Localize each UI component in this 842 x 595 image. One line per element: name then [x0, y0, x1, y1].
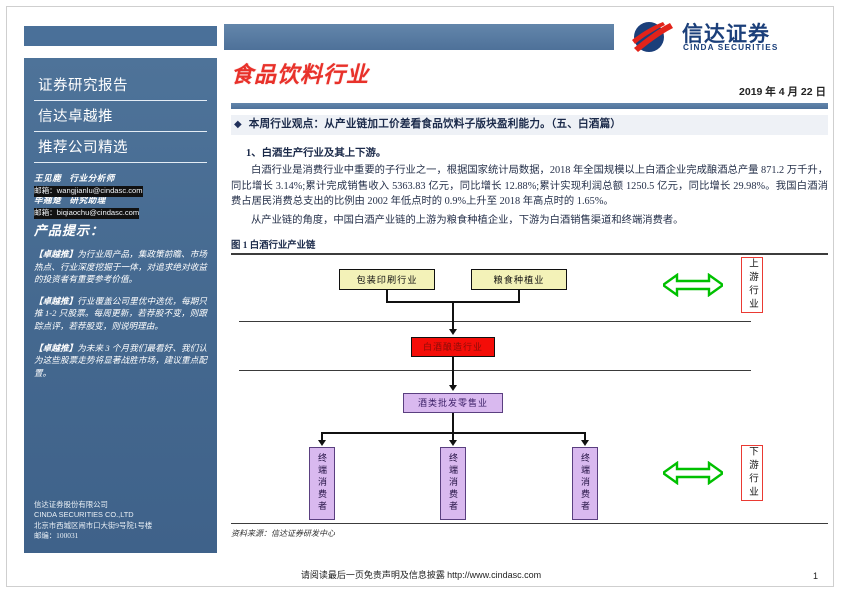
- analyst-card-primary: 王见鹿 行业分析师 执业编号：S1500517100001 联系电话：+86 2…: [34, 172, 207, 184]
- analyst-email[interactable]: 邮箱：biqiaochu@cindasc.com: [34, 208, 139, 219]
- section-heading-text: 本周行业观点：从产业链加工价差看食品饮料子版块盈利能力。（五、白酒篇）: [249, 118, 621, 132]
- sidebar-top-bar: [24, 26, 217, 46]
- report-page: 证券研究报告 信达卓越推 推荐公司精选 王见鹿 行业分析师 执业编号：S1500…: [0, 0, 842, 595]
- arrow-down-icon: [449, 385, 457, 391]
- product-tip-tag: 【卓越推】: [34, 249, 77, 259]
- analyst-email-label: 邮箱：: [34, 186, 57, 195]
- arrow-down-icon: [449, 440, 457, 446]
- sub-heading: 1、白酒生产行业及其上下游。: [246, 144, 828, 159]
- figure-caption: 图 1 白酒行业产业链: [231, 237, 828, 251]
- node-end-consumer: 终端消费者: [572, 447, 598, 520]
- company-name-cn: 信达证券股份有限公司: [34, 500, 212, 510]
- node-liquor-wholesale-retail: 酒类批发零售业: [403, 393, 503, 413]
- node-label: 终端消费者: [315, 453, 329, 513]
- product-tips-title: 产品提示：: [34, 220, 207, 239]
- node-label: 粮食种植业: [494, 272, 545, 286]
- brand-logo: 信达证券 CINDA SECURITIES: [630, 18, 830, 56]
- header-bar: [224, 24, 614, 50]
- company-name-en: CINDA SECURITIES CO.,LTD: [34, 510, 212, 520]
- sidebar-item-research-report[interactable]: 证券研究报告: [34, 68, 207, 101]
- analyst-role: 行业分析师: [70, 173, 116, 183]
- analyst-name-role: 王见鹿 行业分析师: [34, 172, 207, 184]
- company-address: 北京市西城区闹市口大街9号院1号楼: [34, 521, 212, 531]
- arrow-down-icon: [318, 440, 326, 446]
- diagram-separator-upper: [239, 321, 751, 322]
- analyst-email-value: biqiaochu@cindasc.com: [57, 208, 139, 217]
- node-end-consumer: 终端消费者: [309, 447, 335, 520]
- diamond-icon: ◆: [234, 118, 242, 132]
- sidebar-item-label: 信达卓越推: [38, 109, 113, 125]
- arrow-down-icon: [581, 440, 589, 446]
- footer-disclaimer: 请阅读最后一页免责声明及信息披露: [301, 570, 445, 580]
- industry-chain-diagram: 包装印刷行业 粮食种植业 白酒酿造行业 酒类批发零售业: [231, 255, 828, 541]
- body-paragraph: 从产业链的角度，中国白酒产业链的上游为粮食种植企业，下游为白酒销售渠道和终端消费…: [231, 213, 828, 229]
- node-label: 白酒酿造行业: [423, 340, 483, 353]
- node-end-consumer: 终端消费者: [440, 447, 466, 520]
- node-label: 上游行业: [745, 258, 759, 312]
- product-tip: 【卓越推】行业覆盖公司里优中选优，每期只推 1-2 只股票。每周更新，若荐股不变…: [34, 295, 207, 333]
- double-arrow-downstream-icon: [663, 461, 723, 485]
- analyst-name: 王见鹿: [34, 173, 61, 183]
- analyst-name: 毕翘楚: [34, 195, 61, 205]
- product-tip-tag: 【卓越推】: [34, 343, 77, 353]
- header-divider: [231, 103, 828, 109]
- sidebar-item-recommended-companies[interactable]: 推荐公司精选: [34, 132, 207, 163]
- sidebar-item-cinda-excellence[interactable]: 信达卓越推: [34, 101, 207, 132]
- node-label: 终端消费者: [578, 453, 592, 513]
- node-baijiu-brewing: 白酒酿造行业: [411, 337, 495, 357]
- main-content: ◆ 本周行业观点：从产业链加工价差看食品饮料子版块盈利能力。（五、白酒篇） 1、…: [231, 115, 828, 541]
- connector: [452, 357, 454, 388]
- arrow-down-icon: [449, 329, 457, 335]
- node-label: 下游行业: [745, 446, 759, 500]
- node-label: 酒类批发零售业: [418, 396, 488, 409]
- connector: [452, 413, 454, 433]
- cinda-logo-icon: [630, 20, 674, 54]
- node-label: 包装印刷行业: [356, 272, 417, 286]
- product-tip-tag: 【卓越推】: [34, 296, 77, 306]
- analyst-email-value: wangjianlu@cindasc.com: [57, 186, 143, 195]
- double-arrow-upstream-icon: [663, 273, 723, 297]
- footer: 请阅读最后一页免责声明及信息披露 http://www.cindasc.com: [0, 568, 842, 581]
- product-tip: 【卓越推】为未来 3 个月我们最看好、我们认为这些股票走势将显著战胜市场，建议重…: [34, 342, 207, 380]
- report-date: 2019 年 4 月 22 日: [739, 84, 826, 99]
- sidebar: 证券研究报告 信达卓越推 推荐公司精选 王见鹿 行业分析师 执业编号：S1500…: [24, 58, 217, 553]
- sidebar-item-label: 推荐公司精选: [38, 140, 128, 156]
- analyst-email-label: 邮箱：: [34, 208, 57, 217]
- page-number: 1: [813, 571, 818, 581]
- node-label: 终端消费者: [446, 453, 460, 513]
- figure-source: 资料来源：信达证券研发中心: [231, 528, 335, 539]
- section-heading-banner: ◆ 本周行业观点：从产业链加工价差看食品饮料子版块盈利能力。（五、白酒篇）: [231, 115, 828, 135]
- logo-text-en: CINDA SECURITIES: [683, 43, 778, 52]
- page-title: 食品饮料行业: [231, 57, 369, 89]
- connector: [452, 301, 454, 332]
- body-paragraph: 白酒行业是消费行业中重要的子行业之一，根据国家统计局数据，2018 年全国规模以…: [231, 163, 828, 210]
- node-grain-planting: 粮食种植业: [471, 269, 567, 290]
- analyst-role: 研究助理: [70, 195, 106, 205]
- diagram-separator-lower: [239, 370, 751, 371]
- node-packaging-printing: 包装印刷行业: [339, 269, 435, 290]
- product-tip: 【卓越推】为行业周产品，集政策前瞻、市场热点、行业深度挖掘于一体，对追求绝对收益…: [34, 248, 207, 286]
- label-downstream-industry: 下游行业: [741, 445, 763, 501]
- label-upstream-industry: 上游行业: [741, 257, 763, 313]
- sidebar-item-label: 证券研究报告: [38, 78, 128, 94]
- company-info: 信达证券股份有限公司 CINDA SECURITIES CO.,LTD 北京市西…: [34, 500, 212, 541]
- company-zip: 邮编：100031: [34, 531, 212, 541]
- figure-bottom-rule: [231, 523, 828, 524]
- footer-url[interactable]: http://www.cindasc.com: [447, 570, 541, 580]
- analyst-email[interactable]: 邮箱：wangjianlu@cindasc.com: [34, 186, 143, 197]
